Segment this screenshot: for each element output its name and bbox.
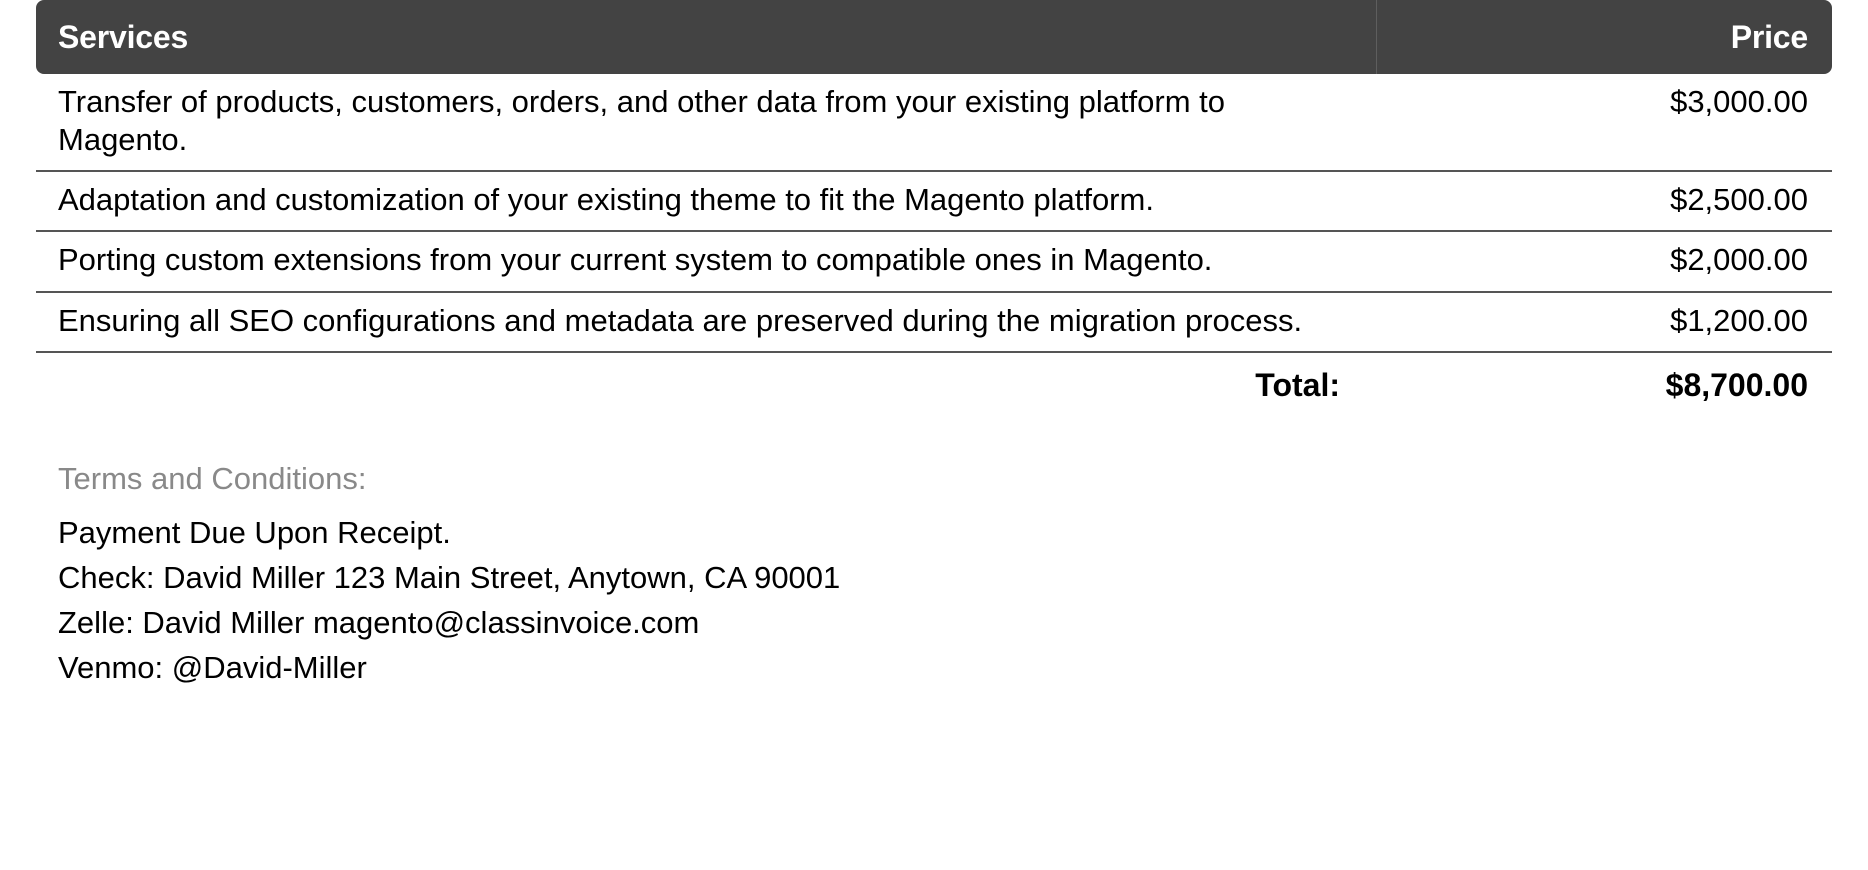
- table-header: Services Price: [36, 0, 1832, 74]
- service-description: Adaptation and customization of your exi…: [36, 171, 1376, 231]
- table-row: Ensuring all SEO configurations and meta…: [36, 292, 1832, 352]
- terms-and-conditions-section: Terms and Conditions: Payment Due Upon R…: [36, 460, 1832, 691]
- terms-line-check: Check: David Miller 123 Main Street, Any…: [58, 556, 1810, 601]
- invoice-document: Services Price Transfer of products, cus…: [0, 0, 1868, 870]
- terms-line-venmo: Venmo: @David-Miller: [58, 646, 1810, 691]
- service-price: $2,500.00: [1376, 171, 1832, 231]
- total-value: $8,700.00: [1376, 352, 1832, 416]
- table-row: Porting custom extensions from your curr…: [36, 231, 1832, 291]
- service-description: Transfer of products, customers, orders,…: [36, 74, 1376, 171]
- table-body: Transfer of products, customers, orders,…: [36, 74, 1832, 416]
- total-label: Total:: [36, 352, 1376, 416]
- service-price: $3,000.00: [1376, 74, 1832, 171]
- column-header-services: Services: [36, 0, 1376, 74]
- service-description: Porting custom extensions from your curr…: [36, 231, 1376, 291]
- terms-heading: Terms and Conditions:: [58, 460, 1810, 497]
- terms-line-payment-due: Payment Due Upon Receipt.: [58, 511, 1810, 556]
- table-header-row: Services Price: [36, 0, 1832, 74]
- services-price-table: Services Price Transfer of products, cus…: [36, 0, 1832, 416]
- table-row: Adaptation and customization of your exi…: [36, 171, 1832, 231]
- service-description: Ensuring all SEO configurations and meta…: [36, 292, 1376, 352]
- table-row: Transfer of products, customers, orders,…: [36, 74, 1832, 171]
- service-price: $1,200.00: [1376, 292, 1832, 352]
- column-header-price: Price: [1376, 0, 1832, 74]
- terms-line-zelle: Zelle: David Miller magento@classinvoice…: [58, 601, 1810, 646]
- table-total-row: Total: $8,700.00: [36, 352, 1832, 416]
- service-price: $2,000.00: [1376, 231, 1832, 291]
